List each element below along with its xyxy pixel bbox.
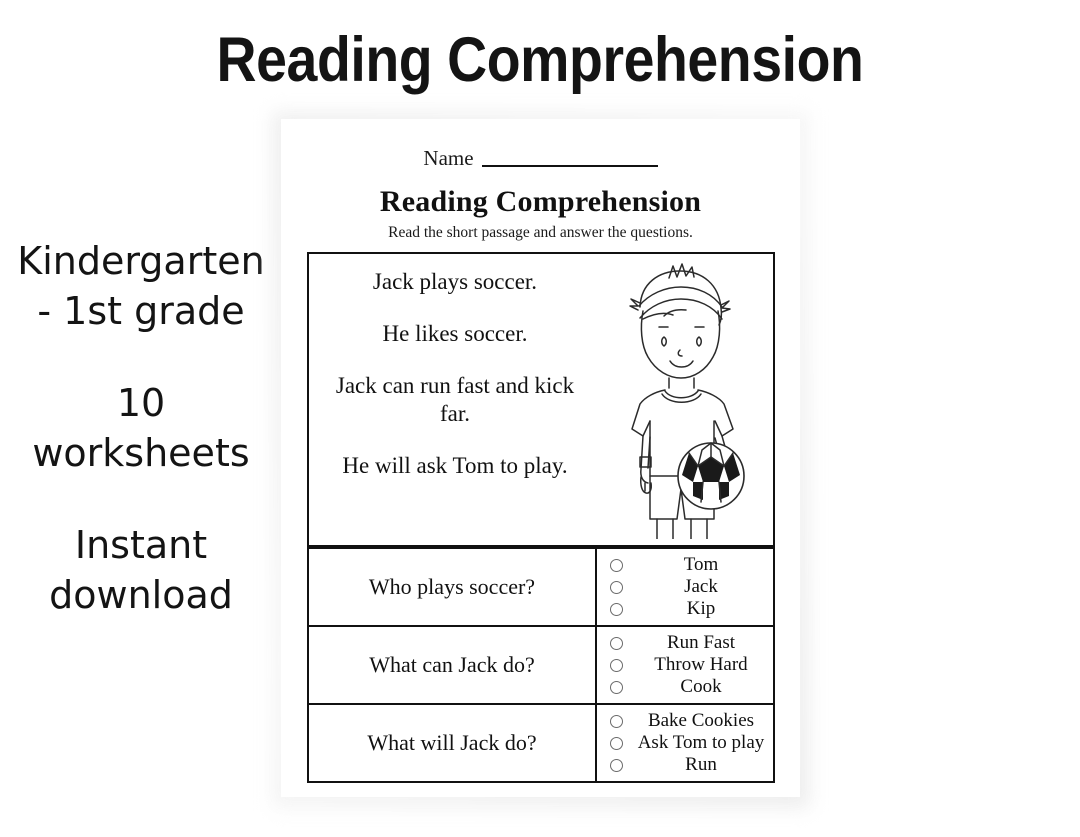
answer-options: Run Fast Throw Hard Cook — [597, 627, 773, 703]
table-row: What can Jack do? Run Fast Throw Hard Co… — [309, 625, 773, 703]
option-label: Cook — [680, 676, 721, 698]
option-label: Ask Tom to play — [638, 732, 765, 754]
option-label: Bake Cookies — [648, 710, 754, 732]
radio-button[interactable] — [610, 737, 623, 750]
promo-line: download — [0, 570, 282, 620]
option-label: Tom — [684, 554, 719, 576]
promo-block-count: 10 worksheets — [0, 378, 282, 478]
worksheet-title: Reading Comprehension — [281, 185, 800, 219]
boy-with-soccer-ball-illustration — [601, 254, 773, 545]
radio-button[interactable] — [610, 715, 623, 728]
option-labels: Tom Jack Kip — [633, 554, 773, 620]
promo-block-grade: Kindergarten - 1st grade — [0, 236, 282, 336]
passage-line: He likes soccer. — [321, 320, 589, 348]
table-row: Who plays soccer? Tom Jack Kip — [309, 547, 773, 625]
name-field-row: Name — [281, 148, 800, 169]
option-label: Throw Hard — [654, 654, 747, 676]
answer-options: Tom Jack Kip — [597, 549, 773, 625]
answer-options: Bake Cookies Ask Tom to play Run — [597, 705, 773, 781]
radio-button[interactable] — [610, 759, 623, 772]
radio-column — [597, 710, 633, 776]
option-label: Run — [685, 754, 717, 776]
option-label: Run Fast — [667, 632, 735, 654]
option-labels: Run Fast Throw Hard Cook — [633, 632, 773, 698]
question-text: What will Jack do? — [309, 705, 597, 781]
radio-column — [597, 632, 633, 698]
question-text: What can Jack do? — [309, 627, 597, 703]
radio-button[interactable] — [610, 581, 623, 594]
passage-line: Jack plays soccer. — [321, 268, 589, 296]
radio-button[interactable] — [610, 559, 623, 572]
radio-button[interactable] — [610, 681, 623, 694]
radio-button[interactable] — [610, 659, 623, 672]
page-title: Reading Comprehension — [65, 24, 1015, 96]
option-label: Jack — [684, 576, 718, 598]
radio-column — [597, 554, 633, 620]
promo-line: Kindergarten — [0, 236, 282, 286]
table-row: What will Jack do? Bake Cookies Ask Tom … — [309, 703, 773, 781]
questions-table: Who plays soccer? Tom Jack Kip What can … — [307, 547, 775, 783]
promo-line: 10 — [0, 378, 282, 428]
worksheet-subtitle: Read the short passage and answer the qu… — [281, 224, 800, 242]
promo-block-delivery: Instant download — [0, 520, 282, 620]
radio-button[interactable] — [610, 603, 623, 616]
passage-line: He will ask Tom to play. — [321, 452, 589, 480]
name-write-line[interactable] — [482, 165, 658, 167]
option-label: Kip — [687, 598, 716, 620]
worksheet-page: Name Reading Comprehension Read the shor… — [281, 119, 800, 797]
question-text: Who plays soccer? — [309, 549, 597, 625]
option-labels: Bake Cookies Ask Tom to play Run — [633, 710, 773, 776]
name-label: Name — [423, 148, 473, 169]
promo-line: worksheets — [0, 428, 282, 478]
passage-text: Jack plays soccer. He likes soccer. Jack… — [309, 254, 601, 545]
passage-line: Jack can run fast and kick far. — [321, 372, 589, 428]
passage-box: Jack plays soccer. He likes soccer. Jack… — [307, 252, 775, 547]
promo-line: - 1st grade — [0, 286, 282, 336]
promo-copy: Kindergarten - 1st grade 10 worksheets I… — [0, 236, 282, 620]
radio-button[interactable] — [610, 637, 623, 650]
promo-line: Instant — [0, 520, 282, 570]
